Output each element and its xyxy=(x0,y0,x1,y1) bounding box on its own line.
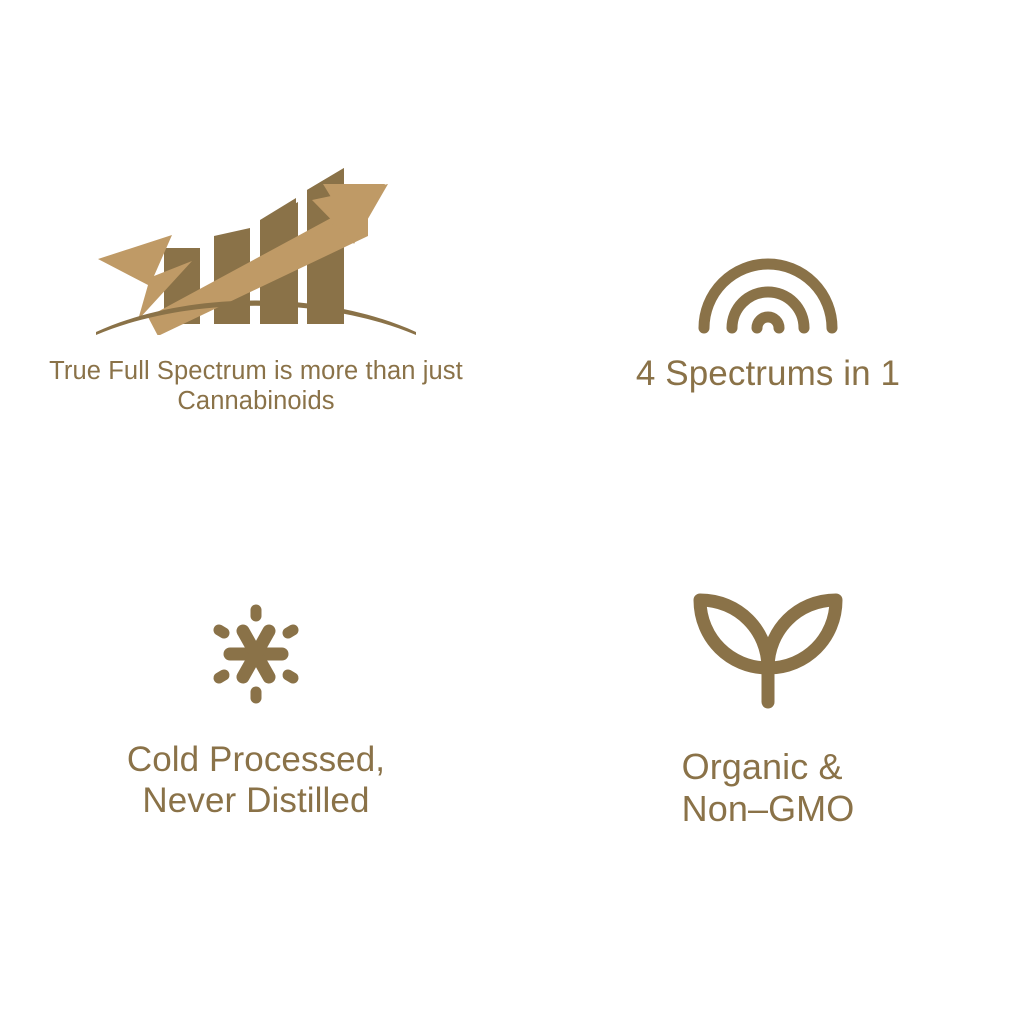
feature-card-organic-non-gmo: Organic & Non–GMO xyxy=(512,512,1024,1024)
feature-label-true-full-spectrum: True Full Spectrum is more than just Can… xyxy=(36,356,476,416)
features-grid: True Full Spectrum is more than just Can… xyxy=(0,0,1024,1024)
sprout-leaves-icon xyxy=(684,584,852,716)
feature-card-true-full-spectrum: True Full Spectrum is more than just Can… xyxy=(0,0,512,512)
feature-label-cold-processed: Cold Processed, Never Distilled xyxy=(127,739,385,822)
snowflake-asterisk-icon xyxy=(204,602,308,706)
feature-label-organic-non-gmo: Organic & Non–GMO xyxy=(682,746,855,831)
growth-chart-arrow-icon xyxy=(96,140,416,335)
rainbow-arcs-icon xyxy=(693,248,843,334)
feature-card-four-spectrums: 4 Spectrums in 1 xyxy=(512,0,1024,512)
feature-label-four-spectrums: 4 Spectrums in 1 xyxy=(636,353,900,394)
feature-card-cold-processed: Cold Processed, Never Distilled xyxy=(0,512,512,1024)
